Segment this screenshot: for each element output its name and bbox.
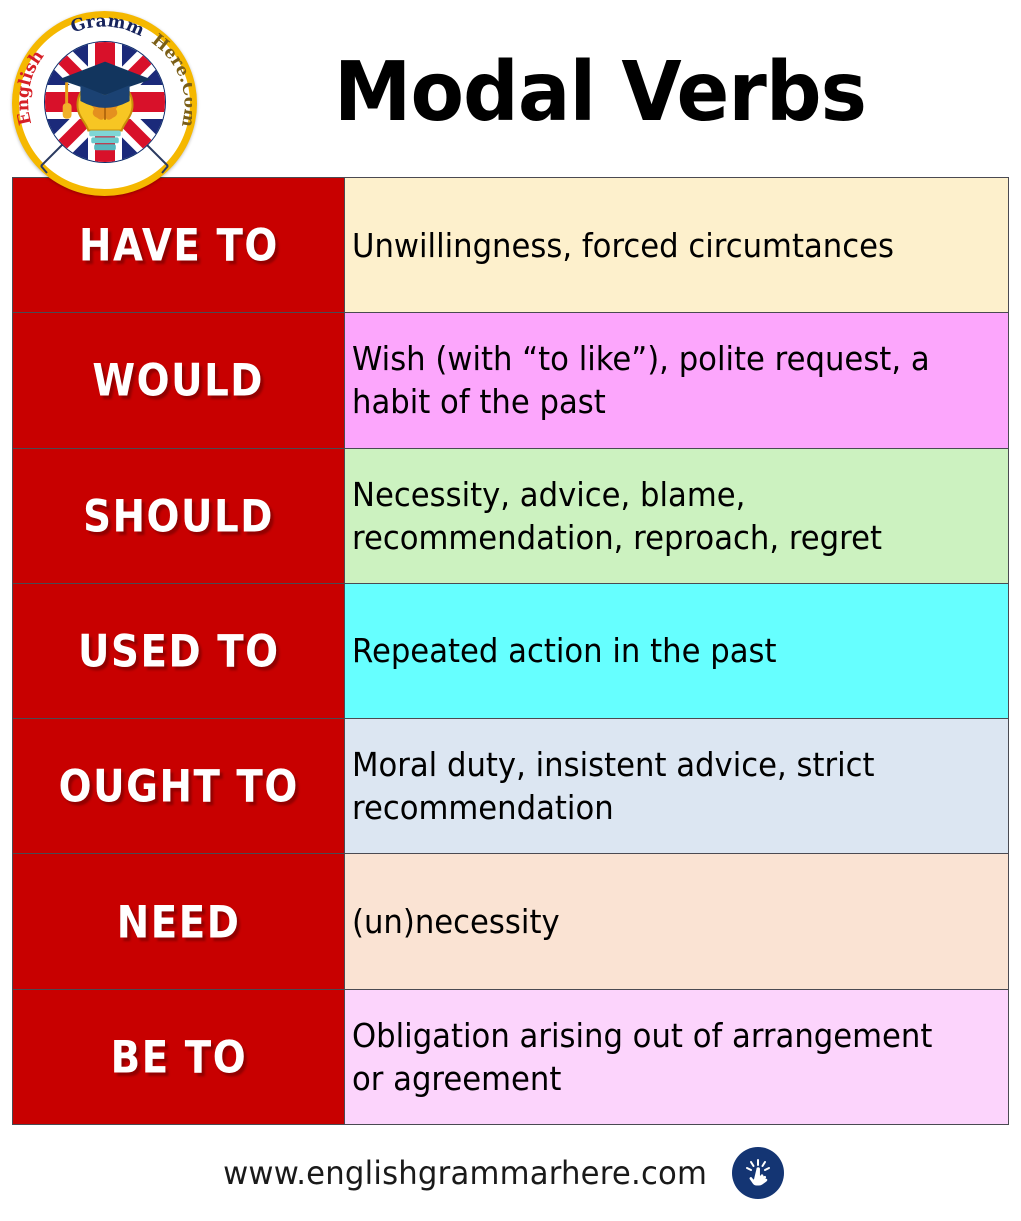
page-footer: www.englishgrammarhere.com (0, 1125, 1021, 1221)
meaning-label: Unwillingness, forced circumtances (352, 224, 953, 267)
meaning-cell: Moral duty, insistent advice, strict rec… (345, 719, 1008, 853)
modal-verbs-table: HAVE TO Unwillingness, forced circumtanc… (12, 177, 1009, 1125)
modal-cell: WOULD (13, 313, 345, 447)
modal-label: WOULD (93, 357, 265, 404)
meaning-label: (un)necessity (352, 900, 953, 943)
modal-cell: NEED (13, 854, 345, 988)
meaning-label: Necessity, advice, blame, recommendation… (352, 473, 953, 559)
modal-label: SHOULD (83, 492, 274, 539)
modal-cell: USED TO (13, 584, 345, 718)
table-row: HAVE TO Unwillingness, forced circumtanc… (13, 178, 1008, 313)
table-row: NEED (un)necessity (13, 854, 1008, 989)
modal-cell: OUGHT TO (13, 719, 345, 853)
meaning-cell: Necessity, advice, blame, recommendation… (345, 449, 1008, 583)
meaning-cell: (un)necessity (345, 854, 1008, 988)
modal-label: NEED (117, 898, 241, 945)
lightbulb-graduation-cap-icon (45, 42, 165, 162)
modal-label: HAVE TO (79, 222, 279, 269)
svg-text:Grammar: Grammar (17, 16, 147, 41)
meaning-cell: Repeated action in the past (345, 584, 1008, 718)
meaning-cell: Obligation arising out of arrangement or… (345, 990, 1008, 1124)
table-row: BE TO Obligation arising out of arrangem… (13, 990, 1008, 1124)
svg-text:English: English (17, 47, 48, 127)
site-logo: English Grammar Here.Com (12, 11, 197, 196)
click-hand-icon (732, 1147, 784, 1199)
modal-cell: HAVE TO (13, 178, 345, 312)
modal-label: OUGHT TO (58, 763, 298, 810)
meaning-label: Repeated action in the past (352, 629, 953, 672)
table-row: OUGHT TO Moral duty, insistent advice, s… (13, 719, 1008, 854)
table-row: SHOULD Necessity, advice, blame, recomme… (13, 449, 1008, 584)
meaning-cell: Wish (with “to like”), polite request, a… (345, 313, 1008, 447)
modal-label: BE TO (110, 1033, 247, 1080)
page-header: English Grammar Here.Com (0, 0, 1021, 177)
meaning-cell: Unwillingness, forced circumtances (345, 178, 1008, 312)
table-row: WOULD Wish (with “to like”), polite requ… (13, 313, 1008, 448)
modal-label: USED TO (78, 627, 280, 674)
logo-center-emblem (44, 41, 166, 163)
website-url[interactable]: www.englishgrammarhere.com (223, 1154, 707, 1192)
meaning-label: Wish (with “to like”), polite request, a… (352, 337, 953, 423)
modal-cell: BE TO (13, 990, 345, 1124)
table-row: USED TO Repeated action in the past (13, 584, 1008, 719)
meaning-label: Obligation arising out of arrangement or… (352, 1014, 953, 1100)
page-title: Modal Verbs (220, 48, 980, 138)
meaning-label: Moral duty, insistent advice, strict rec… (352, 743, 953, 829)
modal-cell: SHOULD (13, 449, 345, 583)
